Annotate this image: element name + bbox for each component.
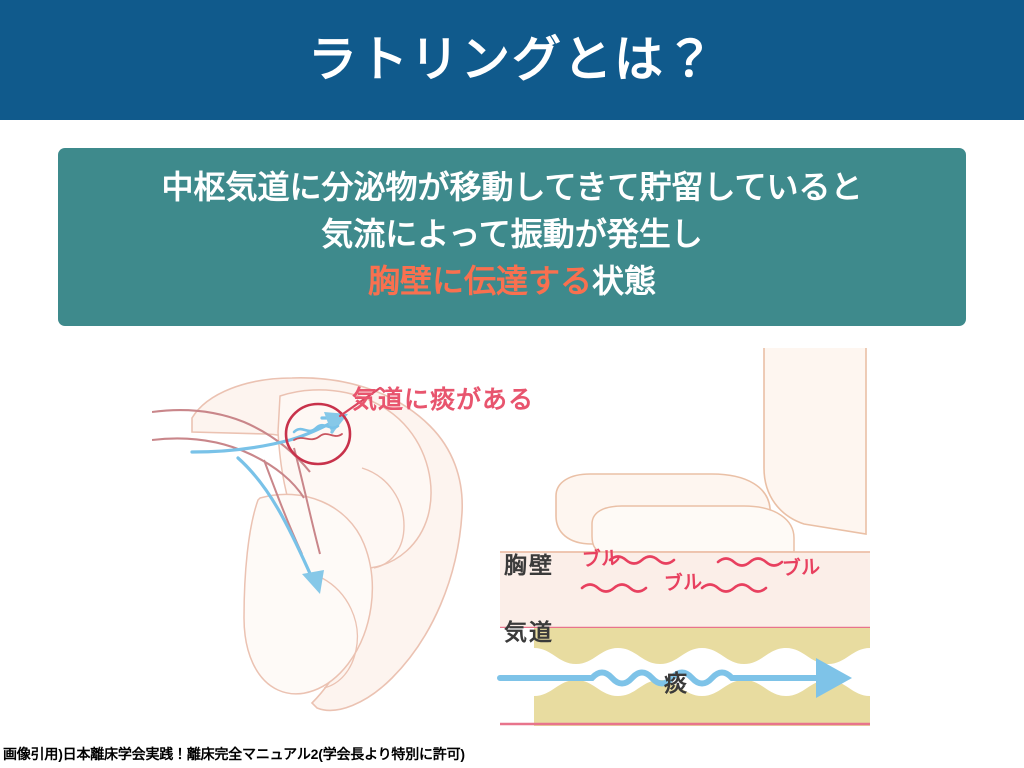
definition-line-3-highlight: 胸壁に伝達する (368, 263, 592, 299)
airway-label: 気道 (504, 613, 554, 647)
definition-line-1: 中枢気道に分泌物が移動してきて貯留していると (161, 164, 862, 211)
image-credit-citation: 画像引用)日本離床学会実践！離床完全マニュアル2(学会長より特別に許可) (3, 744, 465, 764)
medical-illustration: 気道に痰がある 胸壁 気道 痰 ブル ブル ブル (152, 348, 872, 726)
finger-lower (592, 506, 794, 552)
definition-callout-box: 中枢気道に分泌物が移動してきて貯留していると 気流によって振動が発生し 胸壁に伝… (58, 148, 966, 326)
chest-wall-label: 胸壁 (504, 546, 554, 580)
definition-line-2: 気流によって振動が発生し (321, 211, 702, 258)
definition-line-3: 胸壁に伝達する状態 (368, 258, 656, 305)
sputum-label: 痰 (664, 664, 687, 698)
page-title: ラトリングとは？ (308, 36, 716, 85)
airway-sputum-label: 気道に痰がある (352, 380, 534, 416)
slide-header-bar: ラトリングとは？ (0, 0, 1024, 120)
vibration-sound-label-3: ブル (781, 552, 820, 581)
vibration-sound-label-1: ブル (581, 543, 620, 572)
vibration-sound-label-2: ブル (663, 567, 702, 596)
forearm (764, 348, 866, 534)
definition-line-3-tail: 状態 (592, 263, 656, 299)
slide-root: ラトリングとは？ 中枢気道に分泌物が移動してきて貯留していると 気流によって振動… (0, 0, 1024, 768)
left-panel-lung-diagram (152, 378, 462, 711)
